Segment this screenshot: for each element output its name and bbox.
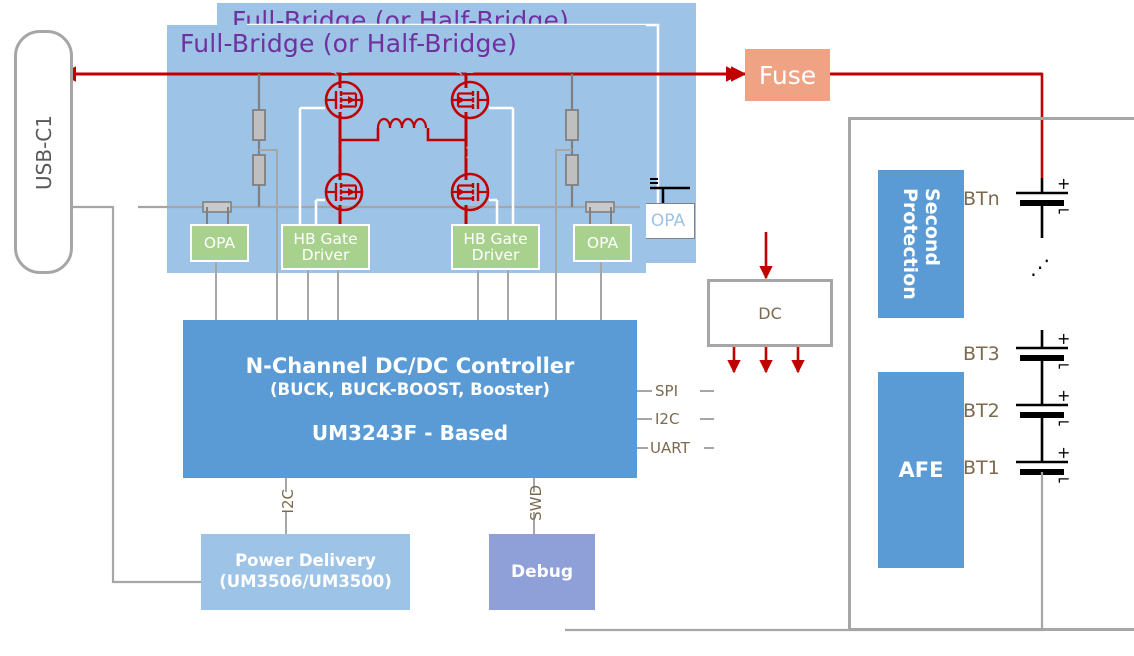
battery-label-btn: BTn <box>963 188 1000 210</box>
battery-minus-bt1: ⌐ <box>1057 472 1070 488</box>
opa-right-label: OPA <box>587 235 618 251</box>
hb-gate-driver-right-box[interactable]: HB Gate Driver <box>451 224 540 270</box>
controller-subtitle: (BUCK, BUCK-BOOST, Booster) <box>270 380 550 399</box>
battery-plus-bt1: + <box>1057 445 1070 461</box>
battery-plus-bt3: + <box>1057 331 1070 347</box>
bus-label-swd: SWD <box>527 485 545 521</box>
second-protection-label: Second Protection <box>899 188 943 300</box>
bus-label-i2c: I2C <box>655 410 679 428</box>
opa-left-box[interactable]: OPA <box>190 224 249 262</box>
hb-gate-driver-left-line1: HB Gate <box>293 231 357 247</box>
battery-plus-bt2: + <box>1057 388 1070 404</box>
controller-title: N-Channel DC/DC Controller <box>246 354 575 378</box>
debug-block[interactable]: Debug <box>489 534 595 610</box>
mosfet-label-q1-tl: Q1 <box>327 58 350 77</box>
hb-gate-driver-right-line2: Driver <box>472 247 520 263</box>
second-protection-block[interactable]: Second Protection <box>878 170 964 318</box>
second-protection-line2: Protection <box>899 188 921 300</box>
dc-output-block[interactable]: DC <box>707 279 833 347</box>
dc-label: DC <box>758 304 782 323</box>
battery-series-ellipsis: ⋰ <box>1030 255 1052 279</box>
bus-label-uart: UART <box>650 439 690 457</box>
hb-gate-driver-left-box[interactable]: HB Gate Driver <box>281 224 370 270</box>
battery-minus-bt2: ⌐ <box>1057 415 1070 431</box>
usb-c1-label: USB-C1 <box>32 115 56 190</box>
dcdc-controller-block[interactable]: N-Channel DC/DC Controller (BUCK, BUCK-B… <box>183 320 637 478</box>
bus-label-spi: SPI <box>655 382 678 400</box>
diagram-canvas: Full-Bridge (or Half-Bridge) OPA Full-Br… <box>0 0 1134 656</box>
hb-gate-driver-right-line1: HB Gate <box>463 231 527 247</box>
usb-c1-connector[interactable]: USB-C1 <box>14 30 73 274</box>
battery-label-bt3: BT3 <box>963 343 1000 365</box>
battery-plus-btn: + <box>1057 176 1070 192</box>
controller-part-number: UM3243F - Based <box>312 421 508 445</box>
mosfet-label-q1-tr: Q1 <box>452 58 475 77</box>
opa-left-label: OPA <box>204 235 235 251</box>
afe-label: AFE <box>899 458 944 482</box>
battery-minus-bt3: ⌐ <box>1057 358 1070 374</box>
battery-label-bt1: BT1 <box>963 457 1000 479</box>
second-protection-line1: Second <box>921 188 943 266</box>
battery-label-bt2: BT2 <box>963 400 1000 422</box>
fuse-label: Fuse <box>759 61 816 90</box>
debug-label: Debug <box>511 562 573 582</box>
opa-right-box[interactable]: OPA <box>573 224 632 262</box>
inductor-label-l1: L1 <box>390 83 413 105</box>
power-delivery-line2: (UM3506/UM3500) <box>219 572 392 593</box>
power-delivery-line1: Power Delivery <box>235 551 376 572</box>
hb-gate-driver-left-line2: Driver <box>302 247 350 263</box>
mosfet-label-q1-br: Q1 <box>452 143 475 162</box>
afe-block[interactable]: AFE <box>878 372 964 568</box>
battery-minus-btn: ⌐ <box>1057 203 1070 219</box>
fuse-block[interactable]: Fuse <box>745 49 830 101</box>
mosfet-label-q1-bl: Q1 <box>327 143 350 162</box>
bus-label-i2c-pd: I2C <box>279 489 297 513</box>
power-delivery-block[interactable]: Power Delivery (UM3506/UM3500) <box>201 534 410 610</box>
